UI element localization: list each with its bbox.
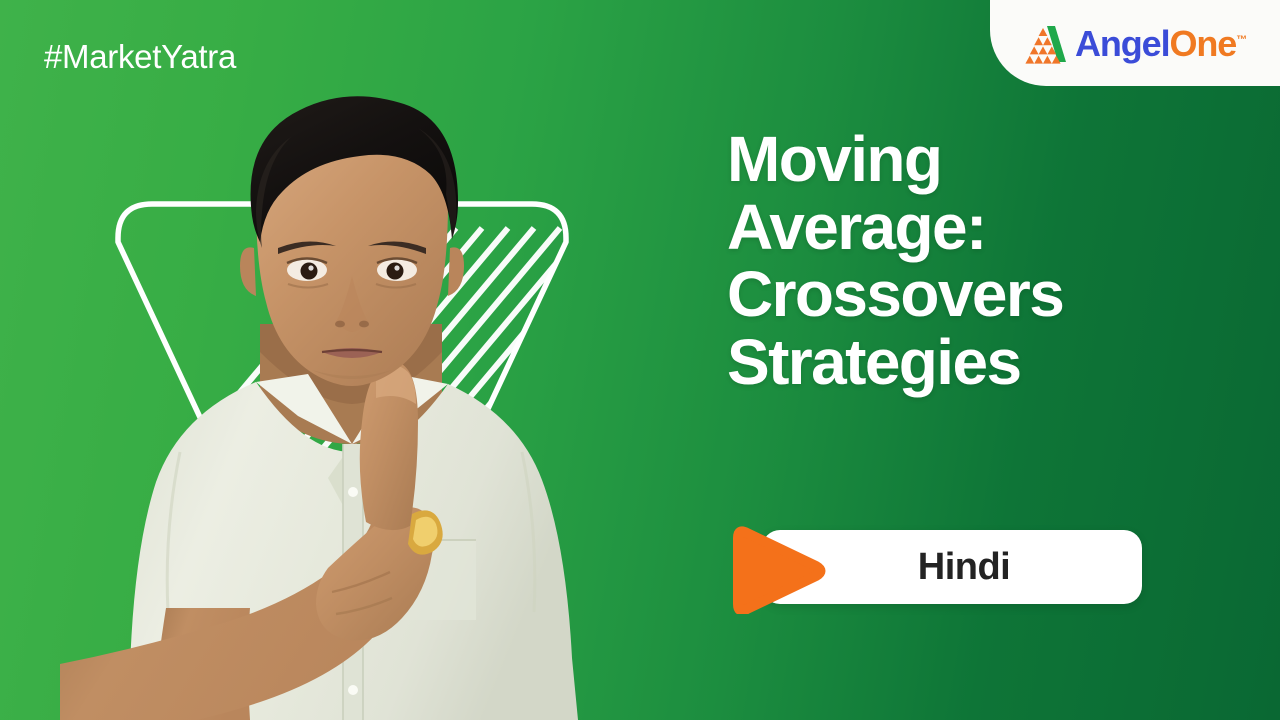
headline-line-1: Moving <box>727 126 1247 194</box>
headline-title: Moving Average: Crossovers Strategies <box>727 126 1247 396</box>
headline-line-4: Strategies <box>727 329 1247 397</box>
play-triangle-icon[interactable] <box>722 526 826 614</box>
headline-line-2: Average: <box>727 194 1247 262</box>
angelone-brand-panel[interactable]: AngelOne™ <box>990 0 1280 86</box>
angelone-wordmark: AngelOne™ <box>1075 26 1247 62</box>
brand-word-one: One <box>1170 23 1237 64</box>
angelone-triangle-logo-icon <box>1020 24 1066 64</box>
headline-line-3: Crossovers <box>727 261 1247 329</box>
video-thumbnail: #MarketYatra <box>0 0 1280 720</box>
presenter-photo <box>60 52 640 720</box>
trademark-symbol: ™ <box>1236 34 1247 46</box>
brand-word-angel: Angel <box>1075 23 1170 64</box>
language-badge[interactable]: Hindi <box>722 530 1142 604</box>
